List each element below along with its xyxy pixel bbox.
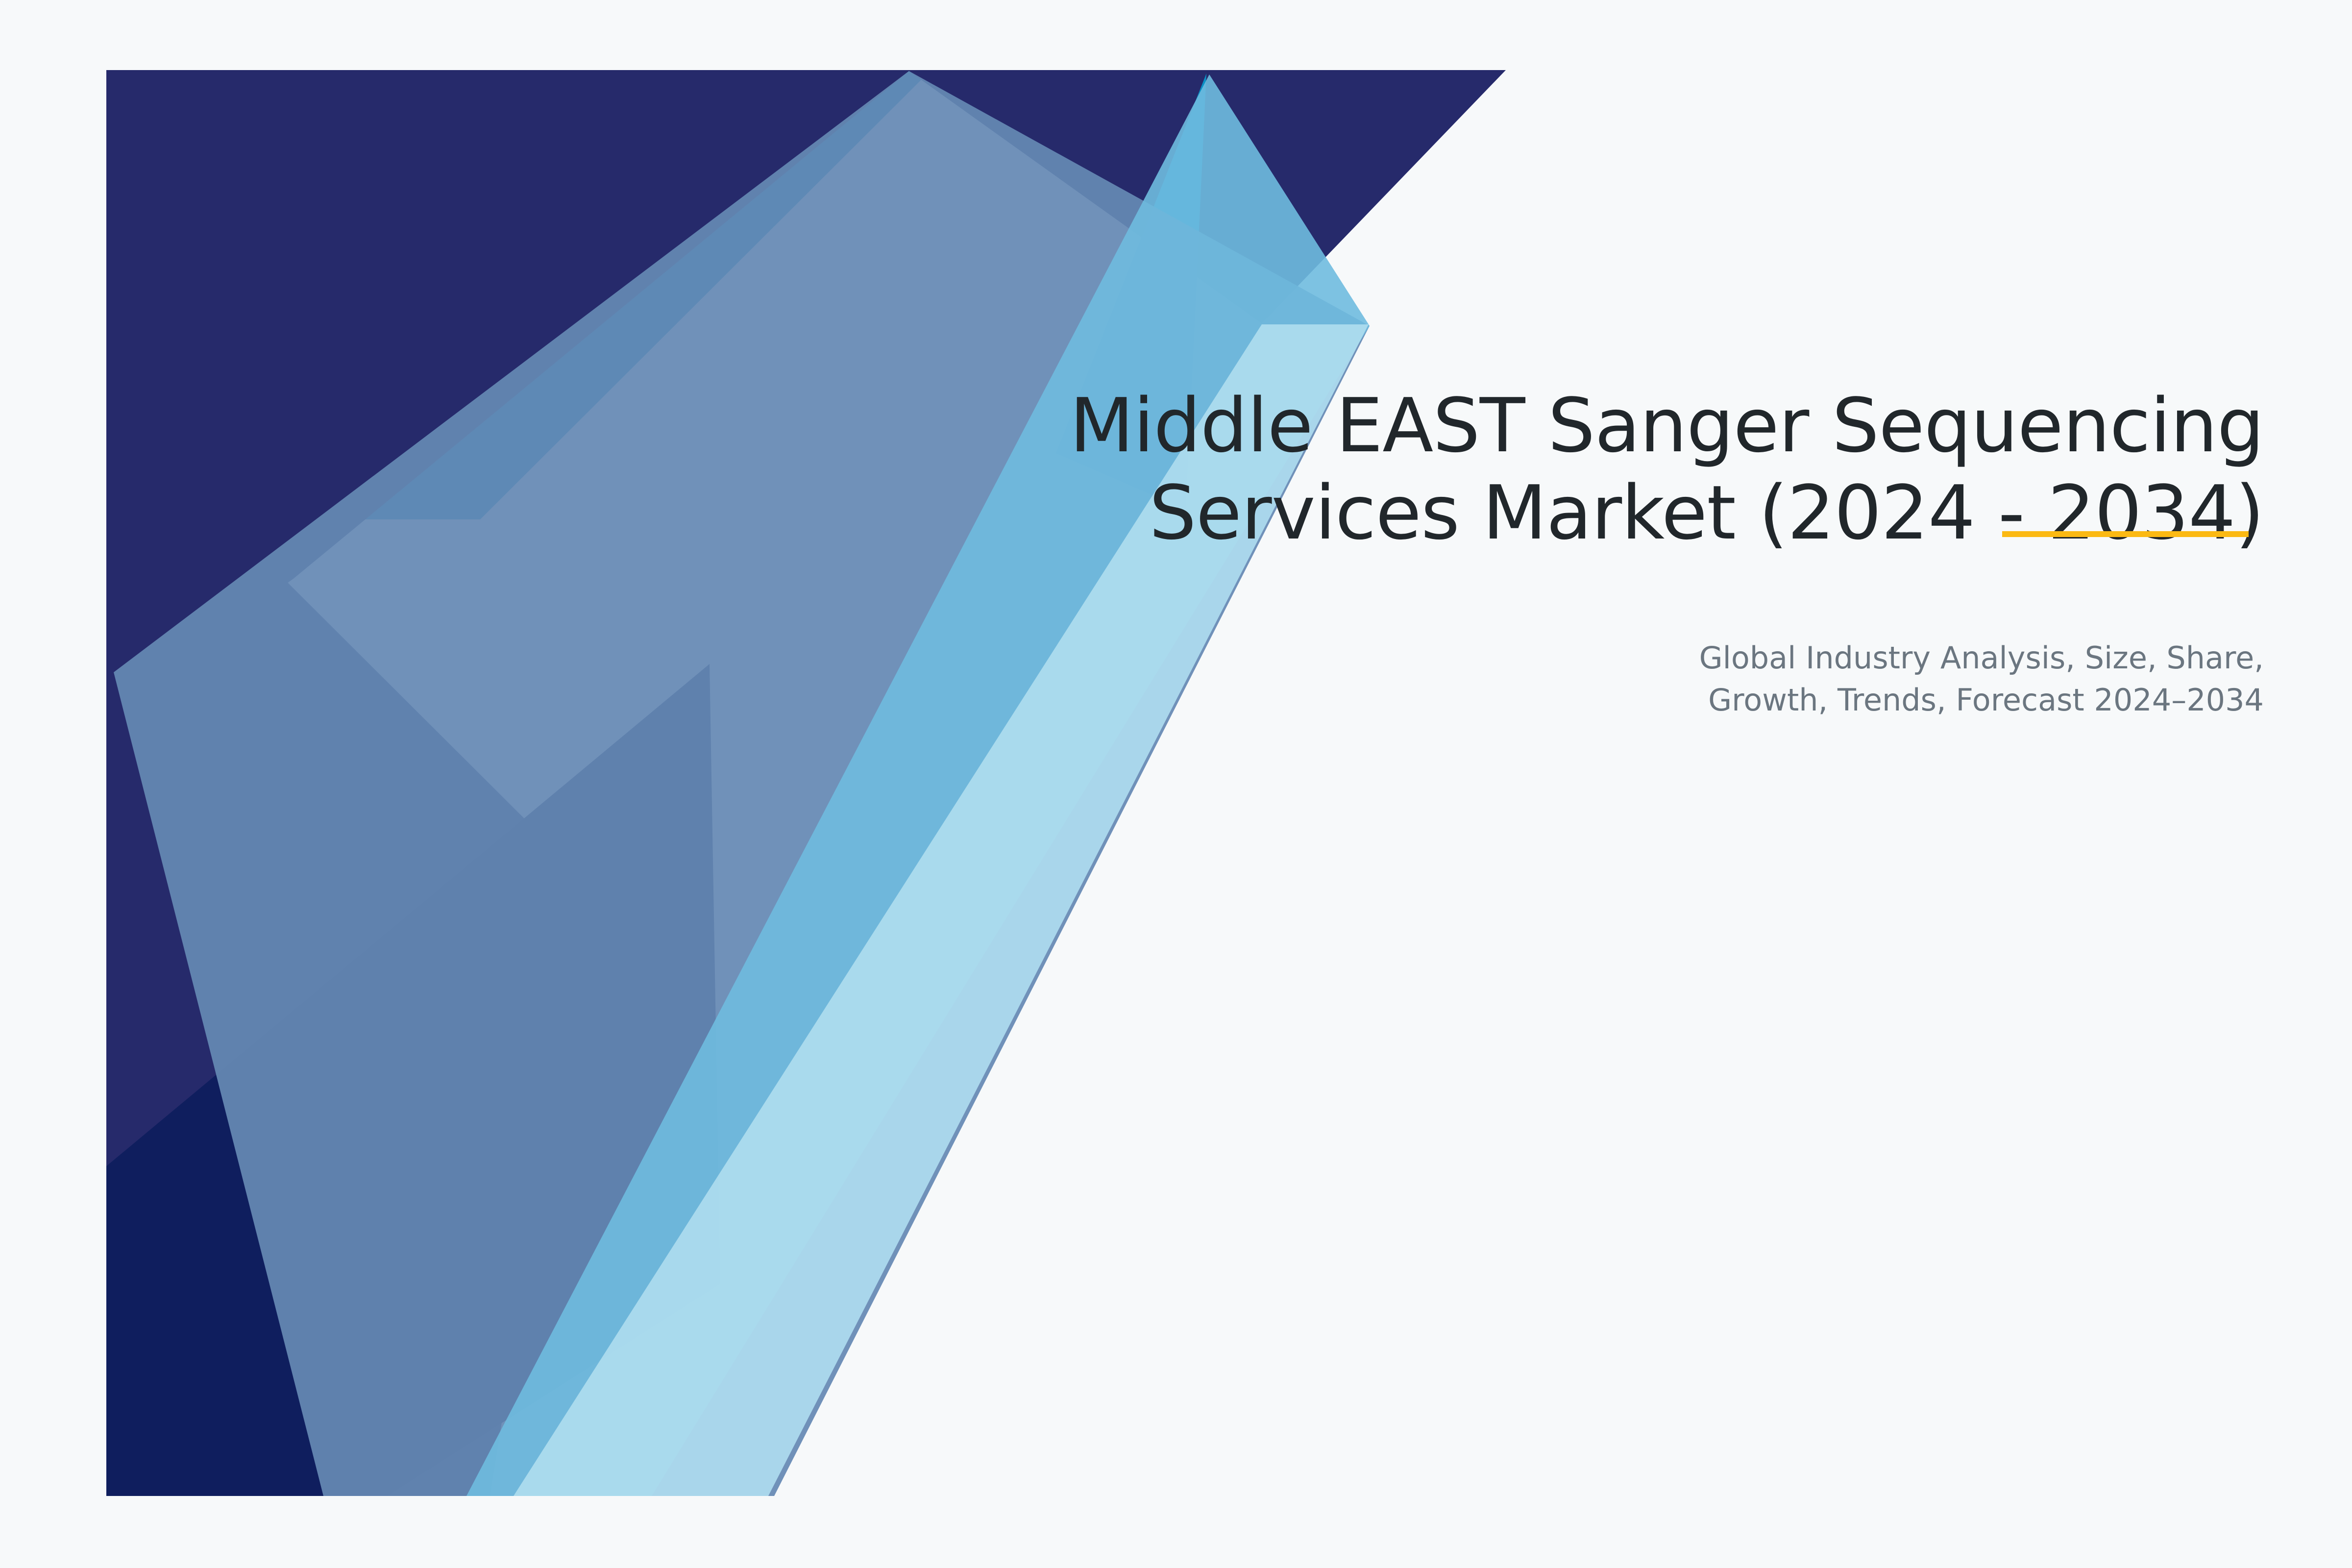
title-accent-underline [2002, 531, 2249, 537]
title-block: Middle EAST Sanger Sequencing Services M… [1039, 382, 2264, 557]
page-title: Middle EAST Sanger Sequencing Services M… [1039, 382, 2264, 557]
page-subtitle: Global Industry Analysis, Size, Share, G… [1421, 637, 2264, 721]
abstract-geometric-banner [0, 0, 2352, 1568]
report-cover: Middle EAST Sanger Sequencing Services M… [0, 0, 2352, 1568]
